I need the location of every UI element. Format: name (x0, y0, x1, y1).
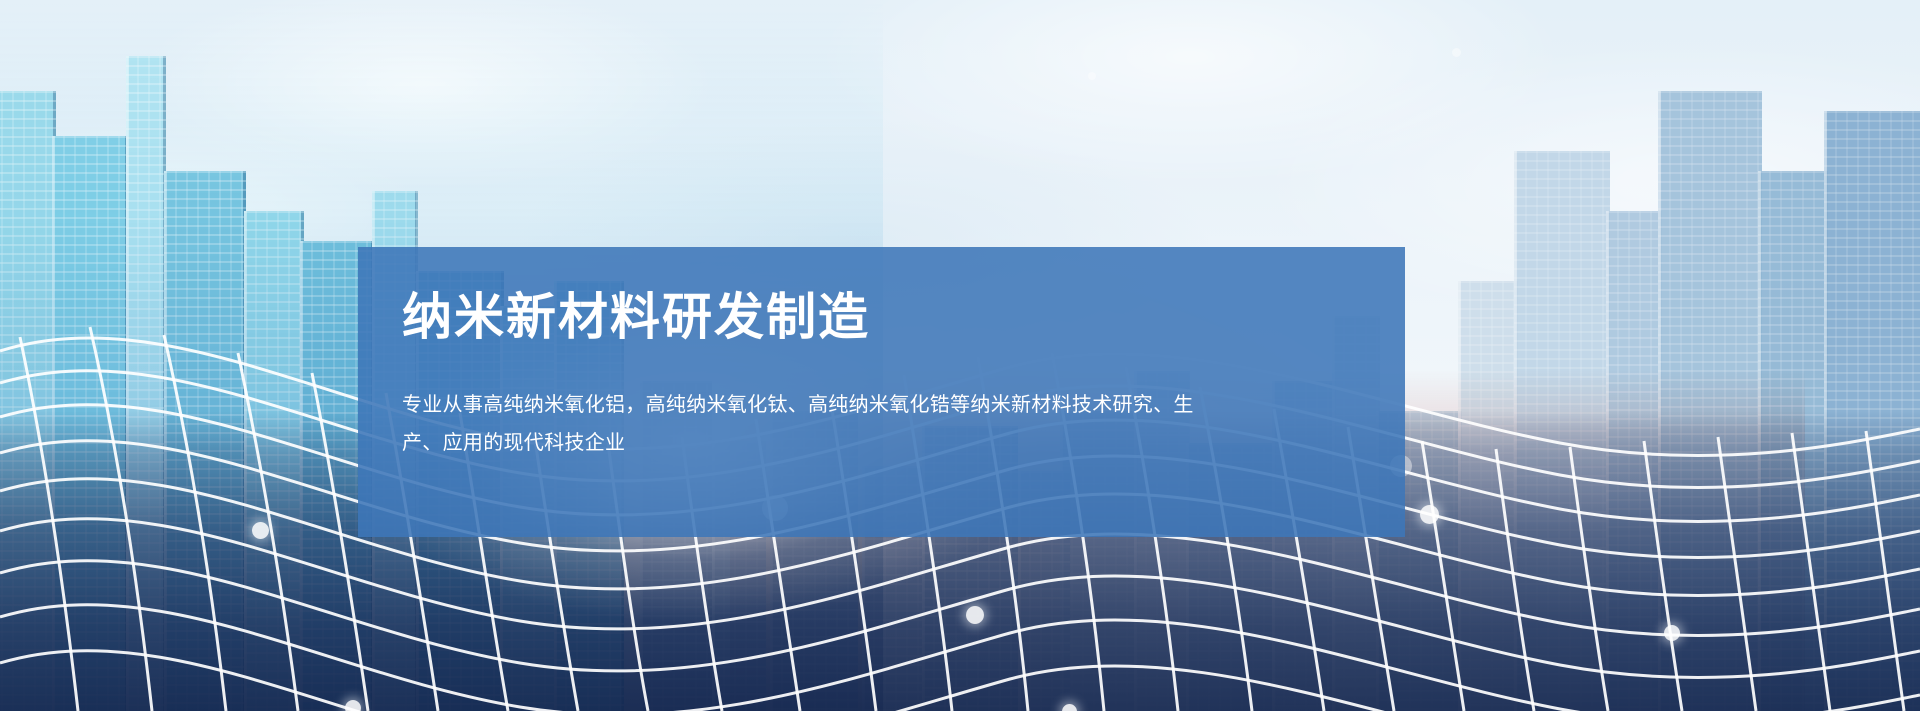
bokeh-dot (1452, 48, 1461, 57)
page-subtitle: 专业从事高纯纳米氧化铝，高纯纳米氧化钛、高纯纳米氧化锆等纳米新材料技术研究、生产… (402, 386, 1202, 462)
bokeh-dot (1088, 72, 1096, 80)
bokeh-dot (1420, 505, 1439, 524)
hero-banner: 纳米新材料研发制造 专业从事高纯纳米氧化铝，高纯纳米氧化钛、高纯纳米氧化锆等纳米… (0, 0, 1920, 711)
bokeh-dot (252, 522, 269, 539)
hero-text-panel: 纳米新材料研发制造 专业从事高纯纳米氧化铝，高纯纳米氧化钛、高纯纳米氧化锆等纳米… (358, 247, 1405, 537)
bokeh-dot (1664, 625, 1680, 641)
page-title: 纳米新材料研发制造 (402, 291, 1359, 344)
bokeh-dot (966, 606, 984, 624)
bokeh-dot (345, 700, 361, 711)
